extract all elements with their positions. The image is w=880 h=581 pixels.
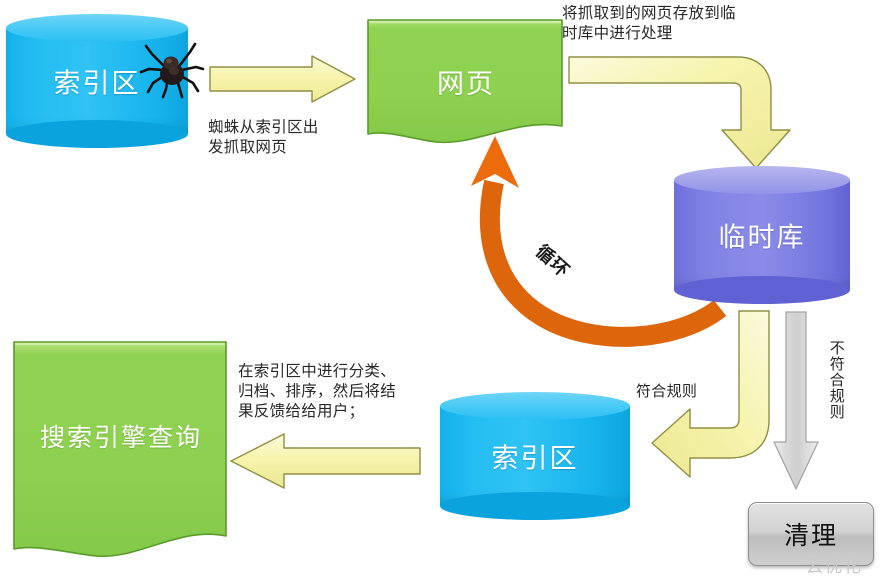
node-label-search-query: 搜索引擎查询 bbox=[12, 418, 230, 454]
node-label-temp-store: 临时库 bbox=[674, 216, 850, 255]
arrow-index-area-to-search-query bbox=[228, 432, 422, 490]
node-search-query[interactable]: 搜索引擎查询 bbox=[12, 340, 230, 562]
node-index-area-bottom[interactable]: 索引区 bbox=[440, 392, 630, 520]
diagram-canvas: 索引区 bbox=[0, 0, 880, 581]
node-label-cleanup: 清理 bbox=[784, 516, 838, 552]
label-spider-crawl: 蜘蛛从索引区出 发抓取网页 bbox=[208, 118, 358, 158]
cylinder-bottom bbox=[440, 492, 630, 520]
label-store-to-temp: 将抓取到的网页存放到临 时库中进行处理 bbox=[562, 4, 812, 44]
cylinder-top bbox=[440, 392, 630, 420]
cylinder-top bbox=[674, 166, 850, 194]
node-webpage[interactable]: 网页 bbox=[366, 18, 566, 146]
watermark: 云优化 bbox=[806, 552, 863, 577]
label-not-match-rule: 不符合规则 bbox=[828, 340, 845, 470]
arrow-spider-to-webpage bbox=[208, 54, 358, 104]
cylinder-bottom bbox=[674, 276, 850, 304]
cylinder-bottom bbox=[6, 120, 188, 148]
node-temp-store[interactable]: 临时库 bbox=[674, 166, 850, 304]
label-match-rule: 符合规则 bbox=[636, 382, 736, 401]
node-label-index-area-bottom: 索引区 bbox=[440, 437, 630, 476]
label-index-classify: 在索引区中进行分类、 归档、排序，然后将结 果反馈给给用户； bbox=[238, 362, 434, 421]
arrow-temp-store-to-cleanup bbox=[772, 310, 820, 492]
node-label-webpage: 网页 bbox=[366, 62, 566, 101]
spider-icon bbox=[140, 38, 204, 100]
